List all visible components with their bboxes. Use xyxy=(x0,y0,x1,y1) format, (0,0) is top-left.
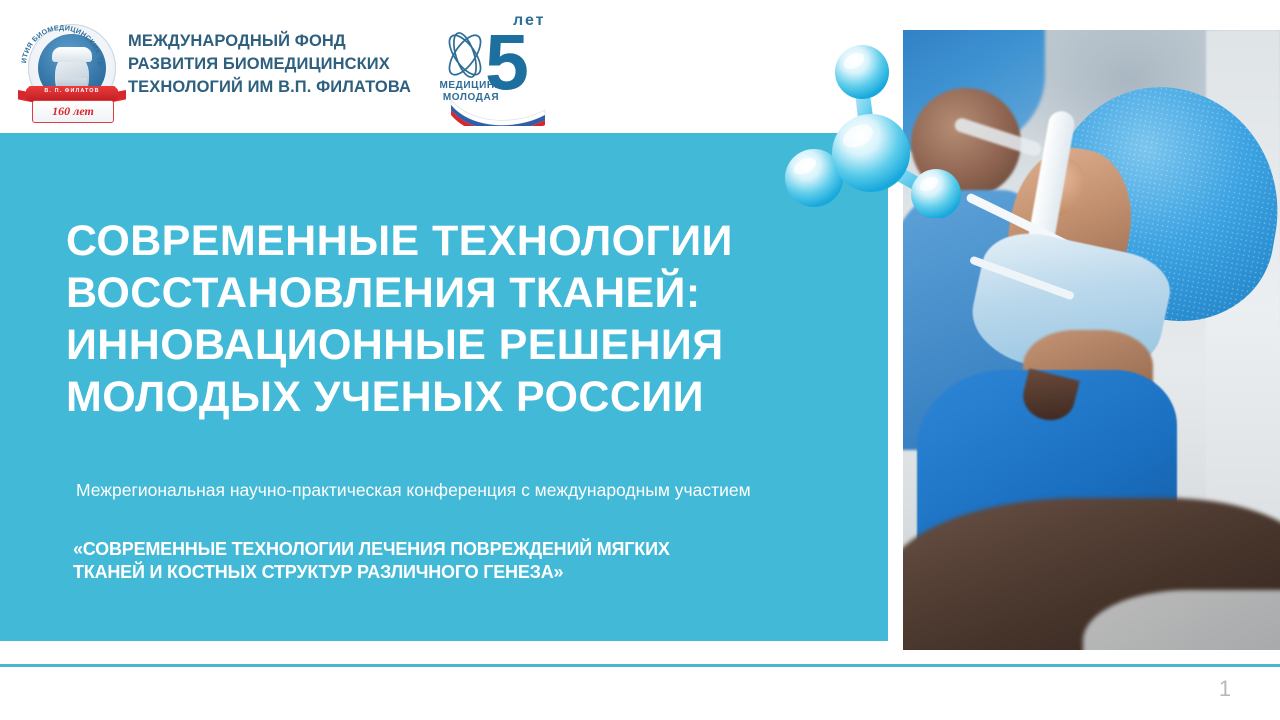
presentation-slide: ФОНД РАЗВИТИЯ БИОМЕДИЦИНСКИХ ТЕХНОЛОГИЙ … xyxy=(0,0,1280,720)
anniversary-number: 5 xyxy=(485,22,527,101)
svg-text:ФОНД РАЗВИТИЯ БИОМЕДИЦИНСКИХ Т: ФОНД РАЗВИТИЯ БИОМЕДИЦИНСКИХ ТЕХНОЛОГИЙ xyxy=(18,22,104,66)
foundation-name-line-2: РАЗВИТИЯ БИОМЕДИЦИНСКИХ xyxy=(128,53,428,76)
molecule-atom-top xyxy=(835,45,889,99)
logo-ribbon: В. П. ФИЛАТОВ 160 лет xyxy=(18,82,126,128)
footer-divider xyxy=(0,664,1280,667)
title-line-4: МОЛОДЫХ УЧЕНЫХ РОССИИ xyxy=(66,371,826,423)
filatov-foundation-logo: ФОНД РАЗВИТИЯ БИОМЕДИЦИНСКИХ ТЕХНОЛОГИЙ … xyxy=(18,22,126,130)
ribbon-name-text: В. П. ФИЛАТОВ xyxy=(26,88,118,94)
title-line-3: ИННОВАЦИОННЫЕ РЕШЕНИЯ xyxy=(66,319,826,371)
molecule-atoms xyxy=(785,45,961,218)
ribbon-name-band: В. П. ФИЛАТОВ xyxy=(26,86,118,101)
conference-type-subtitle: Межрегиональная научно-практическая конф… xyxy=(76,479,866,501)
foundation-name: МЕЖДУНАРОДНЫЙ ФОНД РАЗВИТИЯ БИОМЕДИЦИНСК… xyxy=(128,30,428,99)
logo-ring-text: ФОНД РАЗВИТИЯ БИОМЕДИЦИНСКИХ ТЕХНОЛОГИЙ xyxy=(18,22,104,66)
molecule-atom-right xyxy=(911,169,961,218)
ribbon-years-text: 160 лет xyxy=(33,104,113,119)
theme-line-1: «СОВРЕМЕННЫЕ ТЕХНОЛОГИИ ЛЕЧЕНИЯ ПОВРЕЖДЕ… xyxy=(73,538,873,561)
ribbon-years-band: 160 лет xyxy=(32,100,114,123)
page-title: СОВРЕМЕННЫЕ ТЕХНОЛОГИИ ВОССТАНОВЛЕНИЯ ТК… xyxy=(66,215,826,423)
page-number: 1 xyxy=(1200,676,1250,702)
conference-theme-subtitle: «СОВРЕМЕННЫЕ ТЕХНОЛОГИИ ЛЕЧЕНИЯ ПОВРЕЖДЕ… xyxy=(73,538,873,584)
foundation-name-line-3: ТЕХНОЛОГИЙ ИМ В.П. ФИЛАТОВА xyxy=(128,76,428,99)
title-line-1: СОВРЕМЕННЫЕ ТЕХНОЛОГИИ xyxy=(66,215,826,267)
title-line-2: ВОССТАНОВЛЕНИЯ ТКАНЕЙ: xyxy=(66,267,826,319)
theme-line-2: ТКАНЕЙ И КОСТНЫХ СТРУКТУР РАЗЛИЧНОГО ГЕН… xyxy=(73,561,873,584)
russian-flag-ribbon-icon xyxy=(449,94,547,126)
medicina-molodaya-logo: МЕДИЦИНА МОЛОДАЯ лет 5 xyxy=(425,8,547,126)
molecule-icon xyxy=(785,28,965,218)
foundation-name-line-1: МЕЖДУНАРОДНЫЙ ФОНД xyxy=(128,30,428,53)
molecule-atom-center xyxy=(832,114,910,192)
